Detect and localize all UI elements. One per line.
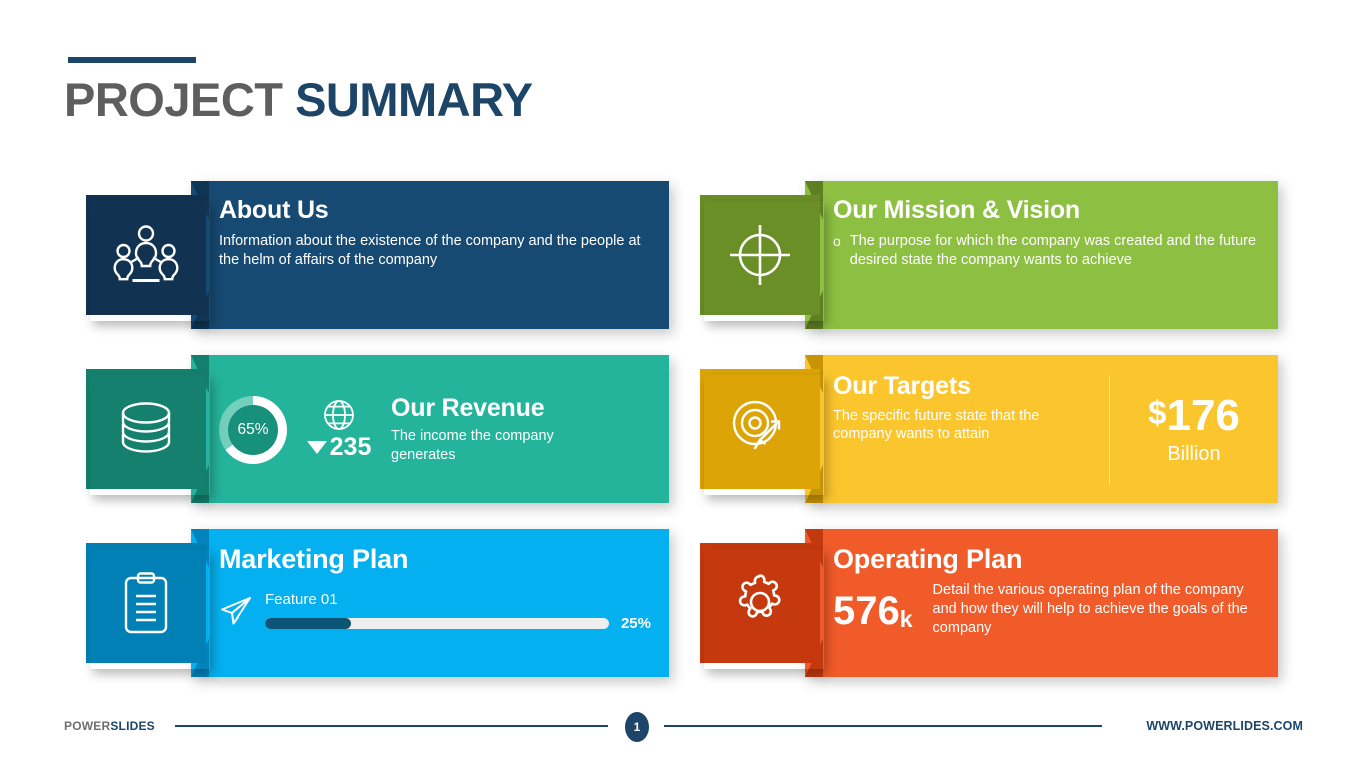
- card-about-us[interactable]: About Us Information about the existence…: [86, 181, 669, 329]
- revenue-icon-panel: [86, 369, 206, 489]
- mission-vision-body: Our Mission & Vision o The purpose for w…: [805, 181, 1278, 329]
- operating-description: Detail the various operating plan of the…: [933, 581, 1260, 639]
- targets-body: Our Targets The specific future state th…: [805, 355, 1278, 503]
- clipboard-icon: [120, 571, 172, 635]
- page-number-badge: 1: [625, 712, 649, 742]
- marketing-progress-group: Feature 01 25%: [265, 591, 651, 632]
- operating-icon-panel: [700, 543, 820, 663]
- card-operating-plan[interactable]: Operating Plan 576k Detail the various o…: [700, 529, 1278, 677]
- donut-center-label: 65%: [228, 405, 278, 455]
- marketing-body: Marketing Plan Feature 01: [191, 529, 669, 677]
- revenue-description: The income the company generates: [391, 427, 576, 465]
- targets-text-block: Our Targets The specific future state th…: [833, 373, 1109, 487]
- slide-canvas: PROJECT SUMMARY About Us: [0, 0, 1365, 767]
- footer-rule-left: [175, 725, 608, 727]
- revenue-metric-column: 235: [293, 398, 385, 462]
- footer-website: WWW.POWERLIDES.COM: [1146, 719, 1303, 733]
- title-accent-rule: [68, 57, 196, 63]
- marketing-feature-label: Feature 01: [265, 591, 651, 608]
- marketing-bar-row: 25%: [265, 615, 651, 632]
- mission-vision-icon-panel: [700, 195, 820, 315]
- about-us-body: About Us Information about the existence…: [191, 181, 669, 329]
- about-us-heading: About Us: [219, 197, 651, 225]
- page-title: PROJECT SUMMARY: [64, 72, 533, 127]
- mission-vision-description: The purpose for which the company was cr…: [850, 232, 1260, 271]
- revenue-delta: 235: [307, 433, 372, 462]
- progress-bar-track[interactable]: [265, 618, 609, 629]
- footer-brand: POWERSLIDES: [64, 719, 155, 733]
- targets-heading: Our Targets: [833, 373, 1093, 401]
- operating-body: Operating Plan 576k Detail the various o…: [805, 529, 1278, 677]
- mission-vision-bullet-row: o The purpose for which the company was …: [833, 232, 1260, 271]
- revenue-donut-chart: 65%: [219, 396, 287, 464]
- mission-vision-heading: Our Mission & Vision: [833, 197, 1260, 225]
- marketing-feature-row: Feature 01 25%: [219, 591, 651, 632]
- footer-brand-part1: POWER: [64, 719, 110, 733]
- about-us-icon-panel: [86, 195, 206, 315]
- progress-bar-fill: [265, 618, 351, 629]
- gear-icon: [728, 571, 792, 635]
- dartboard-arrow-icon: [727, 396, 793, 462]
- marketing-icon-panel: [86, 543, 206, 663]
- card-our-revenue[interactable]: 65% 235 Our Re: [86, 355, 669, 503]
- footer: POWERSLIDES 1 WWW.POWERLIDES.COM: [0, 712, 1365, 748]
- targets-description: The specific future state that the compa…: [833, 407, 1093, 445]
- marketing-heading: Marketing Plan: [219, 545, 651, 575]
- paper-plane-icon: [219, 594, 253, 628]
- page-title-part2: SUMMARY: [295, 73, 533, 126]
- card-our-targets[interactable]: Our Targets The specific future state th…: [700, 355, 1278, 503]
- targets-amount: $176: [1148, 394, 1240, 438]
- bullet-marker-icon: o: [833, 232, 841, 251]
- revenue-heading: Our Revenue: [391, 395, 576, 423]
- footer-brand-part2: SLIDES: [110, 719, 155, 733]
- operating-metric-suffix: k: [900, 606, 913, 632]
- targets-icon-panel: [700, 369, 820, 489]
- progress-bar-percent-label: 25%: [621, 615, 651, 632]
- footer-rule-right: [664, 725, 1102, 727]
- targets-amount-value: 176: [1166, 391, 1239, 440]
- targets-currency-symbol: $: [1148, 394, 1166, 431]
- operating-metric-value: 576: [833, 589, 900, 633]
- crosshair-target-icon: [726, 221, 794, 289]
- targets-amount-unit: Billion: [1167, 443, 1220, 466]
- revenue-delta-value: 235: [330, 433, 372, 462]
- operating-heading: Operating Plan: [833, 545, 1260, 575]
- coin-stack-icon: [114, 400, 178, 458]
- operating-detail-row: 576k Detail the various operating plan o…: [833, 581, 1260, 639]
- about-us-description: Information about the existence of the c…: [219, 232, 651, 271]
- revenue-body: 65% 235 Our Re: [191, 355, 669, 503]
- card-marketing-plan[interactable]: Marketing Plan Feature 01: [86, 529, 669, 677]
- globe-icon: [322, 398, 356, 432]
- card-mission-vision[interactable]: Our Mission & Vision o The purpose for w…: [700, 181, 1278, 329]
- triangle-down-icon: [307, 441, 327, 454]
- targets-metric-block: $176 Billion: [1110, 373, 1278, 487]
- revenue-text-block: Our Revenue The income the company gener…: [391, 395, 576, 464]
- operating-metric: 576k: [833, 581, 913, 633]
- page-title-part1: PROJECT: [64, 73, 283, 126]
- people-group-icon: [113, 224, 179, 286]
